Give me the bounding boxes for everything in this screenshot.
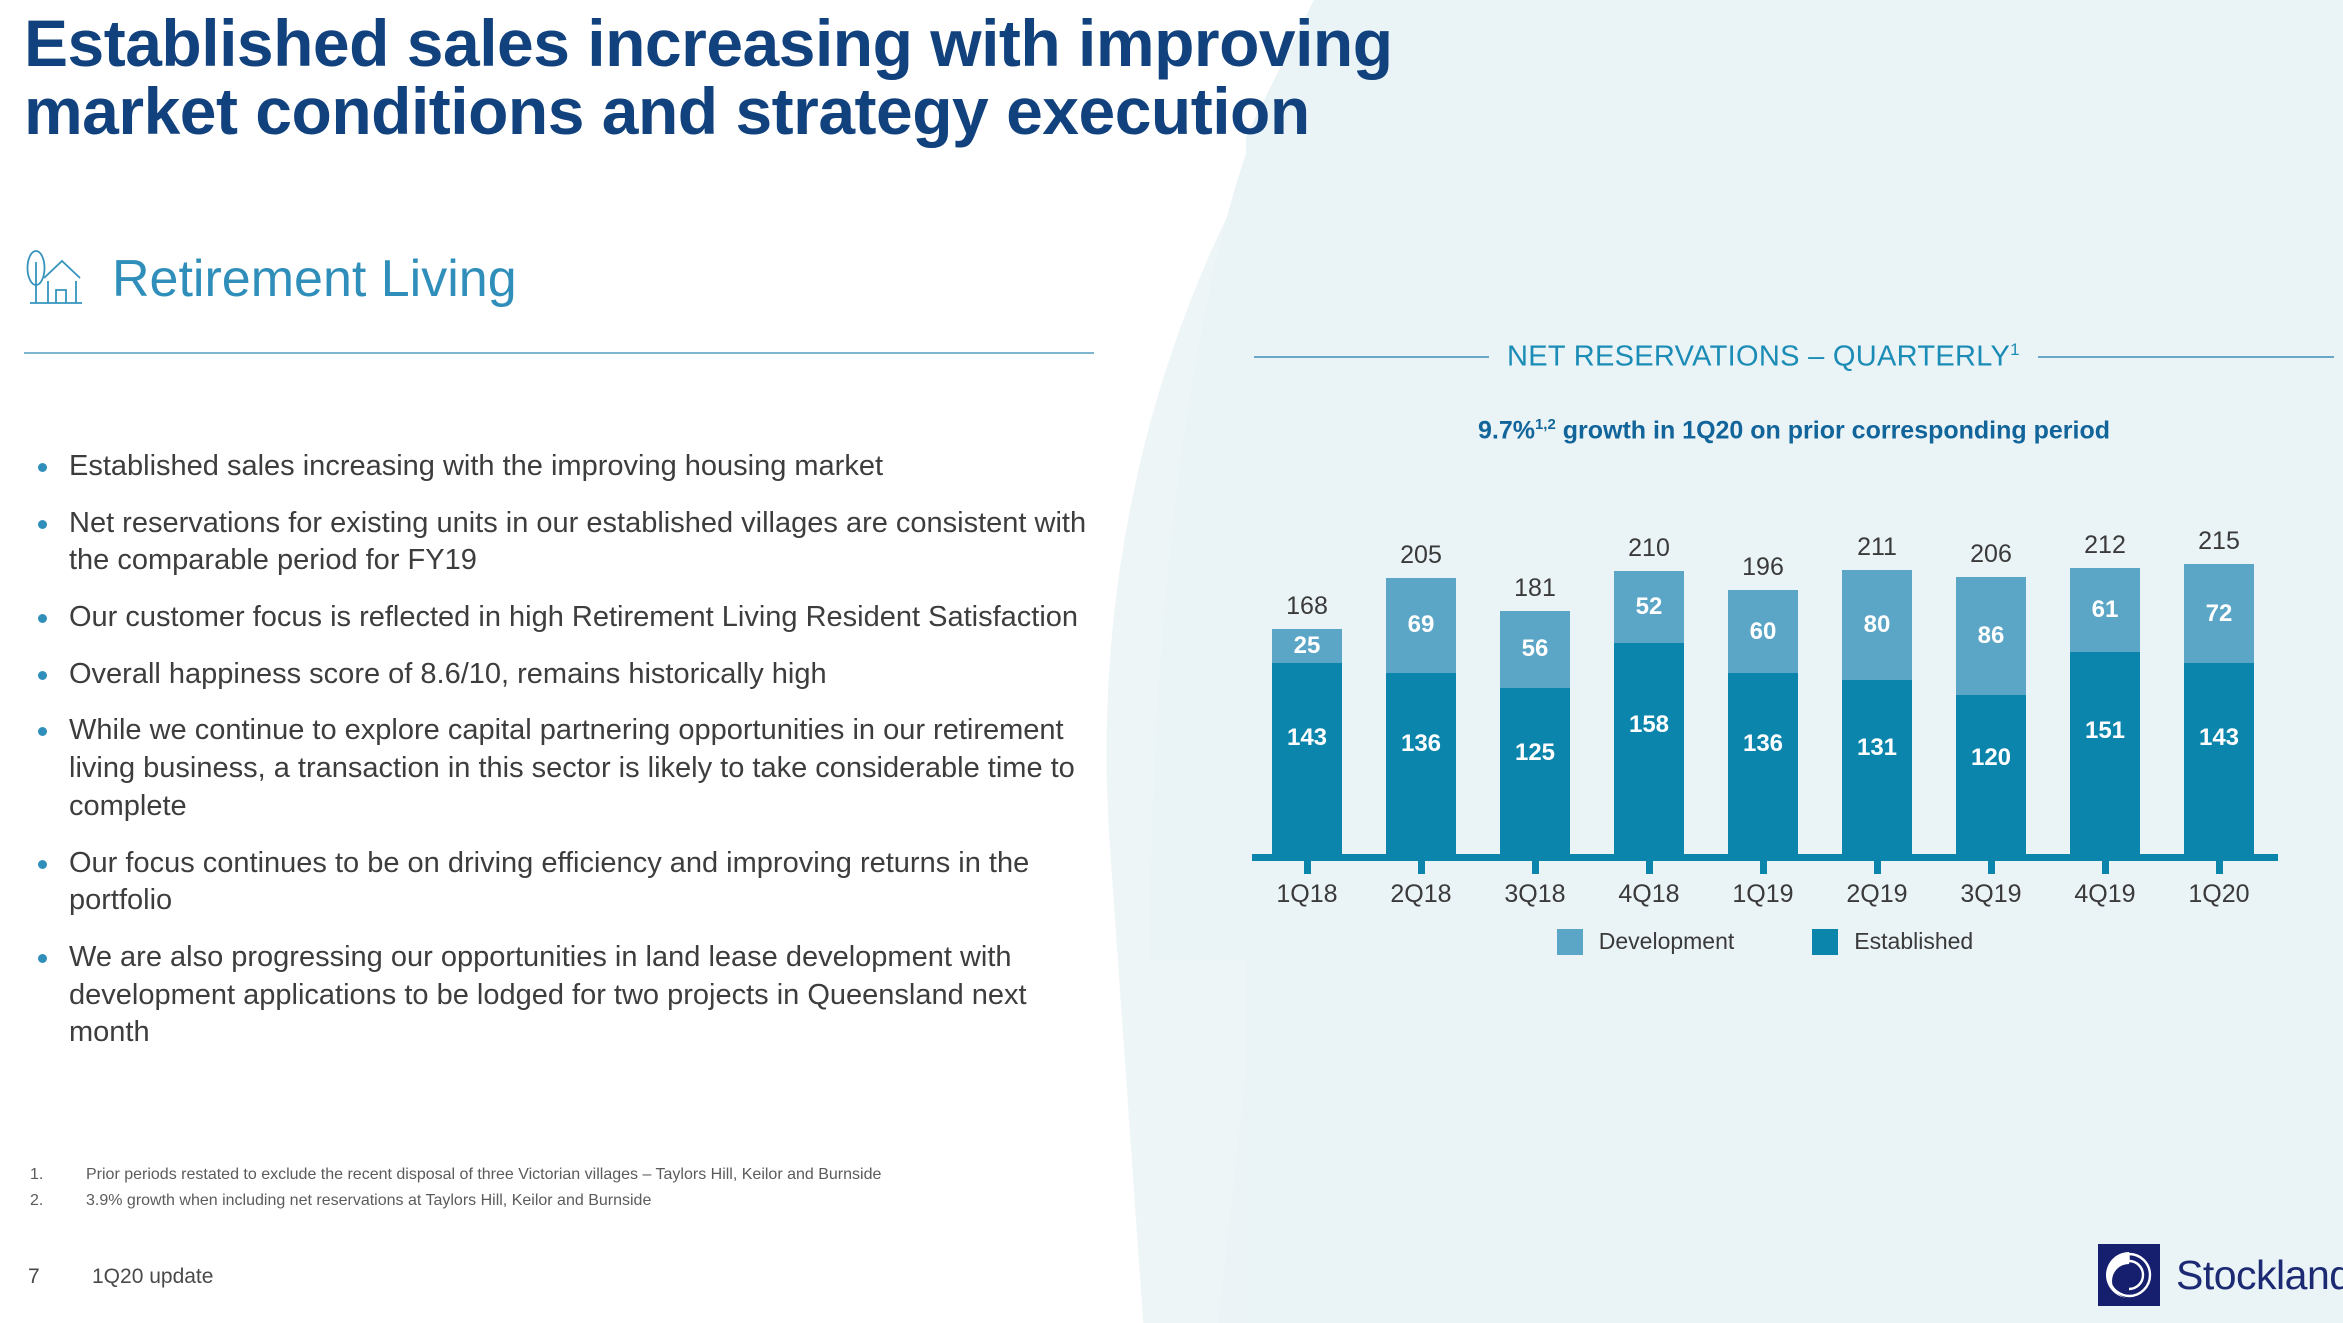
bullet-dot-icon: [38, 954, 47, 963]
bar-segment-established[interactable]: 158: [1614, 643, 1684, 860]
axis-tick: [1988, 861, 1995, 874]
legend-label: Established: [1854, 928, 1973, 955]
bar-segment-established[interactable]: 143: [2184, 663, 2254, 860]
bar-segment-label: 136: [1386, 730, 1456, 758]
bar-segment-label: 151: [2070, 717, 2140, 745]
bar-segment-established[interactable]: 120: [1956, 695, 2026, 860]
bullet-dot-icon: [38, 520, 47, 529]
bullet-dot-icon: [38, 463, 47, 472]
bar-segment-established[interactable]: 125: [1500, 688, 1570, 860]
bullet-text: Our focus continues to be on driving eff…: [69, 845, 1108, 920]
chart-category-labels: 1Q182Q183Q184Q181Q192Q193Q194Q191Q20: [1252, 880, 2278, 920]
bullet-dot-icon: [38, 614, 47, 623]
footnote-number: 1.: [30, 1162, 86, 1188]
chart-header-rule-right: [2038, 356, 2334, 358]
house-tree-icon: [22, 248, 86, 310]
bar-total-label: 168: [1286, 592, 1328, 621]
list-item: Established sales increasing with the im…: [38, 448, 1108, 486]
bar-group[interactable]: 21180131: [1842, 570, 1912, 860]
bullet-text: Established sales increasing with the im…: [69, 448, 883, 486]
axis-tick: [1760, 861, 1767, 874]
bar-segment-development[interactable]: 61: [2070, 568, 2140, 652]
list-item: While we continue to explore capital par…: [38, 712, 1108, 825]
bar-segment-development[interactable]: 80: [1842, 570, 1912, 680]
bar-segment-label: 56: [1500, 635, 1570, 663]
axis-tick: [1532, 861, 1539, 874]
bullet-text: We are also progressing our opportunitie…: [69, 939, 1108, 1052]
stockland-swirl-icon: [2098, 1244, 2160, 1306]
bullet-text: Overall happiness score of 8.6/10, remai…: [69, 656, 827, 694]
bar-segment-label: 52: [1614, 593, 1684, 621]
axis-tick: [2102, 861, 2109, 874]
bar-segment-label: 69: [1386, 611, 1456, 639]
footnote-text: Prior periods restated to exclude the re…: [86, 1162, 1130, 1188]
category-label: 3Q19: [1956, 880, 2026, 909]
bar-segment-established[interactable]: 131: [1842, 680, 1912, 860]
bullet-text: Our customer focus is reflected in high …: [69, 599, 1078, 637]
bullet-list: Established sales increasing with the im…: [38, 448, 1108, 1071]
axis-tick: [1646, 861, 1653, 874]
bullet-dot-icon: [38, 727, 47, 736]
footnote-row: 1.Prior periods restated to exclude the …: [30, 1162, 1130, 1188]
brand-wordmark: Stockland: [2176, 1252, 2343, 1299]
bar-total-label: 210: [1628, 534, 1670, 563]
page-title: Established sales increasing with improv…: [24, 10, 1504, 146]
category-label: 1Q19: [1728, 880, 1798, 909]
bar-group[interactable]: 16825143: [1272, 629, 1342, 860]
category-label: 2Q18: [1386, 880, 1456, 909]
bar-group[interactable]: 21052158: [1614, 571, 1684, 860]
chart-header-rule-left: [1254, 356, 1489, 358]
bar-segment-established[interactable]: 143: [1272, 663, 1342, 860]
stockland-logo: Stockland: [2098, 1244, 2343, 1306]
bar-total-label: 181: [1514, 574, 1556, 603]
legend-item[interactable]: Established: [1812, 928, 1973, 955]
bar-total-label: 196: [1742, 553, 1784, 582]
chart-title: NET RESERVATIONS – QUARTERLY1: [1507, 340, 2020, 374]
category-label: 1Q18: [1272, 880, 1342, 909]
bar-segment-label: 80: [1842, 611, 1912, 639]
legend-swatch: [1812, 929, 1838, 955]
bar-segment-development[interactable]: 72: [2184, 564, 2254, 663]
page-number: 7: [28, 1265, 40, 1289]
bar-segment-label: 125: [1500, 739, 1570, 767]
bar-segment-development[interactable]: 56: [1500, 611, 1570, 688]
category-label: 4Q18: [1614, 880, 1684, 909]
section-label: Retirement Living: [112, 253, 517, 305]
axis-tick: [2216, 861, 2223, 874]
legend-item[interactable]: Development: [1557, 928, 1735, 955]
bar-segment-development[interactable]: 69: [1386, 578, 1456, 673]
footnote-number: 2.: [30, 1188, 86, 1214]
list-item: Our customer focus is reflected in high …: [38, 599, 1108, 637]
axis-tick: [1874, 861, 1881, 874]
bar-segment-label: 136: [1728, 730, 1798, 758]
bar-segment-development[interactable]: 86: [1956, 577, 2026, 695]
bar-group[interactable]: 21572143: [2184, 564, 2254, 860]
category-label: 1Q20: [2184, 880, 2254, 909]
category-label: 3Q18: [1500, 880, 1570, 909]
bar-segment-established[interactable]: 136: [1728, 673, 1798, 860]
bar-segment-development[interactable]: 25: [1272, 629, 1342, 663]
bar-segment-label: 60: [1728, 618, 1798, 646]
bar-segment-label: 72: [2184, 600, 2254, 628]
bar-segment-label: 158: [1614, 711, 1684, 739]
bar-segment-label: 25: [1272, 632, 1342, 660]
category-label: 2Q19: [1842, 880, 1912, 909]
bullet-text: Net reservations for existing units in o…: [69, 505, 1108, 580]
bar-segment-label: 61: [2070, 596, 2140, 624]
axis-tick: [1304, 861, 1311, 874]
chart-subtitle: 9.7%1,2 growth in 1Q20 on prior correspo…: [1254, 416, 2334, 445]
bullet-dot-icon: [38, 671, 47, 680]
bar-group[interactable]: 18156125: [1500, 611, 1570, 860]
list-item: Overall happiness score of 8.6/10, remai…: [38, 656, 1108, 694]
bar-segment-established[interactable]: 151: [2070, 652, 2140, 860]
list-item: We are also progressing our opportunitie…: [38, 939, 1108, 1052]
chart-legend: DevelopmentEstablished: [1252, 928, 2278, 955]
bar-total-label: 212: [2084, 531, 2126, 560]
bar-segment-development[interactable]: 60: [1728, 590, 1798, 673]
section-divider: [24, 352, 1094, 354]
bar-group[interactable]: 21261151: [2070, 568, 2140, 860]
footnote-row: 2.3.9% growth when including net reserva…: [30, 1188, 1130, 1214]
legend-label: Development: [1599, 928, 1735, 955]
bar-group[interactable]: 19660136: [1728, 590, 1798, 860]
bar-segment-label: 143: [2184, 724, 2254, 752]
bar-segment-established[interactable]: 136: [1386, 673, 1456, 860]
list-item: Net reservations for existing units in o…: [38, 505, 1108, 580]
bar-segment-label: 86: [1956, 622, 2026, 650]
bar-total-label: 211: [1857, 533, 1897, 562]
bar-segment-label: 120: [1956, 744, 2026, 772]
bullet-text: While we continue to explore capital par…: [69, 712, 1108, 825]
bullet-dot-icon: [38, 860, 47, 869]
chart-plot-area: 1682514320569136181561252105215819660136…: [1252, 470, 2282, 860]
footnotes: 1.Prior periods restated to exclude the …: [30, 1162, 1130, 1213]
page-footer-label: 1Q20 update: [92, 1265, 213, 1289]
list-item: Our focus continues to be on driving eff…: [38, 845, 1108, 920]
bar-total-label: 206: [1970, 540, 2012, 569]
section-header: Retirement Living: [22, 248, 517, 310]
bar-total-label: 205: [1400, 541, 1442, 570]
bar-segment-development[interactable]: 52: [1614, 571, 1684, 643]
bar-group[interactable]: 20686120: [1956, 577, 2026, 860]
bar-total-label: 215: [2198, 527, 2240, 556]
chart-header: NET RESERVATIONS – QUARTERLY1: [1254, 340, 2334, 374]
axis-tick: [1418, 861, 1425, 874]
bar-group[interactable]: 20569136: [1386, 578, 1456, 860]
chart-x-axis: [1252, 854, 2278, 861]
category-label: 4Q19: [2070, 880, 2140, 909]
bar-segment-label: 143: [1272, 724, 1342, 752]
footnote-text: 3.9% growth when including net reservati…: [86, 1188, 1130, 1214]
bar-segment-label: 131: [1842, 734, 1912, 762]
legend-swatch: [1557, 929, 1583, 955]
slide: Established sales increasing with improv…: [0, 0, 2343, 1323]
